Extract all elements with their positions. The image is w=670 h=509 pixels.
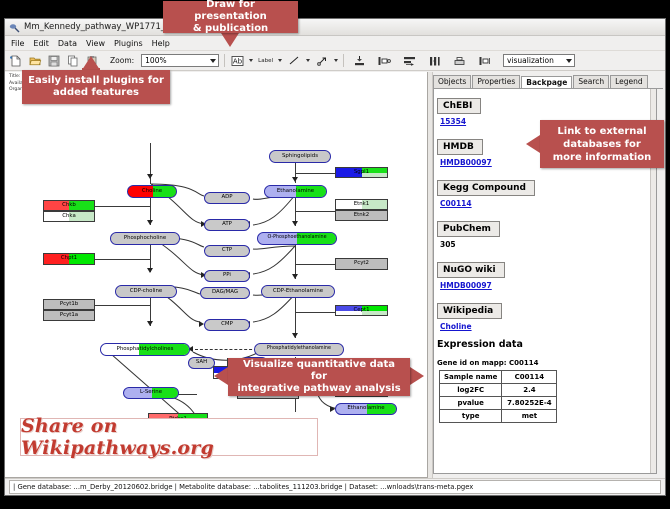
- svg-text:Ab: Ab: [233, 57, 243, 65]
- new-icon[interactable]: [9, 54, 23, 68]
- chevron-down-icon[interactable]: [334, 59, 338, 62]
- callout-plugins-line2: added features: [53, 87, 139, 99]
- gene-chka[interactable]: Chka: [43, 211, 95, 222]
- pathvisio-icon: [9, 22, 20, 33]
- node-label: Ethanolamine: [347, 406, 384, 411]
- metabolite-atp[interactable]: ATP: [204, 219, 250, 231]
- metabolite-sah[interactable]: SAH: [188, 357, 215, 369]
- metabolite-phosphatidylcholines[interactable]: Phosphatidylcholines: [100, 343, 190, 356]
- node-label: CTP: [222, 248, 232, 253]
- callout-draw: Draw for presentation & publication: [163, 1, 298, 33]
- node-label: ATP: [222, 222, 232, 227]
- status-bar: | Gene database: ...m_Derby_20120602.bri…: [5, 478, 665, 495]
- connector: [295, 173, 335, 174]
- gene-etnk2[interactable]: Etnk2: [335, 210, 388, 221]
- expr-key: pvalue: [440, 397, 502, 410]
- zoom-label: Zoom:: [110, 56, 134, 65]
- connector: [295, 211, 335, 212]
- menu-data[interactable]: Data: [58, 39, 77, 48]
- metabolite-ctp[interactable]: CTP: [204, 245, 250, 257]
- menu-help[interactable]: Help: [152, 39, 170, 48]
- node-label: CDP-Ethanolamine: [273, 289, 323, 294]
- toolbar-separator: [224, 54, 225, 67]
- gene-etnk1[interactable]: Etnk1: [335, 199, 388, 210]
- metabolite-cdp-ethanolamine[interactable]: CDP-Ethanolamine: [261, 285, 335, 298]
- metabolite-adp[interactable]: ADP: [204, 192, 250, 204]
- callout-plugins: Easily install plugins for added feature…: [22, 70, 170, 104]
- db-header-kegg-compound: Kegg Compound: [437, 180, 535, 196]
- callout-links: Link to external databases for more info…: [540, 120, 664, 168]
- distribute-vertical-icon[interactable]: [402, 54, 416, 68]
- db-header-hmdb: HMDB: [437, 139, 483, 155]
- font-style-icon[interactable]: Ab: [230, 54, 244, 68]
- metabolite-cdp-choline[interactable]: CDP-choline: [115, 285, 177, 298]
- gene-pcyt2[interactable]: Pcyt2: [335, 258, 388, 270]
- node-label: Chka: [62, 214, 76, 219]
- chevron-down-icon: [210, 59, 216, 63]
- callout-visualize-line1: Visualize quantitative data for: [234, 359, 404, 383]
- save-icon[interactable]: [47, 54, 61, 68]
- db-header-pubchem: PubChem: [437, 221, 500, 237]
- db-value-pubchem: 305: [440, 240, 653, 249]
- table-row: type met: [440, 410, 557, 423]
- expr-key: Sample name: [440, 371, 502, 384]
- visualization-value: visualization: [507, 56, 554, 65]
- metabolite-choline-top[interactable]: Choline: [127, 185, 177, 198]
- tab-objects[interactable]: Objects: [433, 75, 471, 88]
- toolbar-separator: [343, 54, 344, 67]
- tab-search[interactable]: Search: [573, 75, 609, 88]
- cofactor-curve: [249, 292, 299, 332]
- node-label: CMP: [221, 322, 233, 327]
- callout-visualize-line2: integrative pathway analysis: [237, 383, 400, 395]
- metabolite-dagmag[interactable]: DAG/MAG: [200, 287, 250, 299]
- chevron-down-icon[interactable]: [249, 59, 253, 62]
- chevron-down-icon[interactable]: [278, 59, 282, 62]
- node-label: SAH: [196, 360, 207, 365]
- arrow-down-icon: [292, 333, 298, 338]
- size-equal-icon[interactable]: [452, 54, 466, 68]
- metabolite-cmp[interactable]: CMP: [204, 319, 250, 331]
- chevron-down-icon: [566, 59, 572, 63]
- db-header-nugo-wiki: NuGO wiki: [437, 262, 505, 278]
- callout-plugins-pointer: [82, 56, 100, 70]
- arrow-down-icon: [147, 174, 153, 179]
- cofactor-curve: [249, 193, 299, 235]
- gene-chkb[interactable]: Chkb: [43, 200, 95, 211]
- callout-visualize: Visualize quantitative data for integrat…: [228, 358, 410, 396]
- node-label: Sgpl1: [354, 170, 369, 175]
- connector: [93, 259, 150, 260]
- screenshot-root: Mm_Kennedy_pathway_WP1771_45176.gpml Fil…: [0, 0, 670, 509]
- zoom-value: 100%: [145, 56, 166, 65]
- callout-draw-line1: Draw for presentation: [169, 0, 292, 23]
- status-text: | Gene database: ...m_Derby_20120602.bri…: [9, 480, 661, 494]
- title-bar: Mm_Kennedy_pathway_WP1771_45176.gpml: [5, 19, 665, 36]
- gene-sgpl1[interactable]: Sgpl1: [335, 167, 388, 178]
- cofactor-curve: [249, 244, 299, 284]
- db-link-nugo-wiki[interactable]: HMDB00097: [440, 281, 653, 290]
- node-label: ADP: [221, 195, 232, 200]
- align-top-icon[interactable]: [352, 54, 366, 68]
- callout-draw-line2: & publication: [193, 23, 268, 35]
- node-label: Pcyt1b: [60, 302, 78, 307]
- connector: [295, 312, 335, 313]
- expr-value: C00114: [502, 371, 557, 384]
- callout-links-line3: more information: [553, 151, 652, 164]
- callout-links-line1: Link to external: [557, 125, 646, 138]
- node-label: L-Serine: [140, 390, 162, 395]
- metabolite-phosphatidylethanolamine[interactable]: Phosphatidylethanolamine: [254, 343, 344, 356]
- db-link-kegg-compound[interactable]: C00114: [440, 199, 653, 208]
- expression-data-heading: Expression data: [437, 339, 653, 350]
- arrow-down-icon: [292, 177, 298, 182]
- copy-icon[interactable]: [66, 54, 80, 68]
- distribute-horizontal-icon[interactable]: [427, 54, 441, 68]
- node-label: CDP-choline: [130, 289, 162, 294]
- line-tool-icon[interactable]: [287, 54, 301, 68]
- node-label: Phosphatidylcholines: [117, 347, 174, 352]
- node-label: Chkb: [62, 203, 76, 208]
- connector: [177, 394, 197, 395]
- node-label: O-Phosphoethanolamine: [267, 236, 326, 241]
- menu-bar: File Edit Data View Plugins Help: [5, 36, 665, 51]
- callout-visualize-pointer-right: [410, 367, 424, 385]
- menu-view[interactable]: View: [86, 39, 105, 48]
- node-label: Pcyt1a: [60, 313, 78, 318]
- expr-key: type: [440, 410, 502, 423]
- table-row: log2FC 2.4: [440, 384, 557, 397]
- db-header-wikipedia: Wikipedia: [437, 303, 502, 319]
- expr-value: met: [502, 410, 557, 423]
- expr-value: 7.80252E-4: [502, 397, 557, 410]
- metabolite-sphingolipids[interactable]: Sphingolipids: [269, 150, 331, 163]
- chevron-down-icon[interactable]: [306, 59, 310, 62]
- tool-bar: Zoom: 100% Ab Label: [5, 51, 665, 71]
- side-tabs: Objects Properties Backpage Search Legen…: [433, 75, 663, 89]
- menu-plugins[interactable]: Plugins: [114, 39, 143, 48]
- expr-key: log2FC: [440, 384, 502, 397]
- menu-file[interactable]: File: [11, 39, 24, 48]
- connector: [93, 305, 150, 306]
- expr-value: 2.4: [502, 384, 557, 397]
- metabolite-ethanolamine-top[interactable]: Ethanolamine: [264, 185, 327, 198]
- menu-edit[interactable]: Edit: [33, 39, 49, 48]
- node-label: Chpt1: [61, 256, 77, 261]
- connector: [93, 206, 150, 207]
- callout-visualize-pointer: [214, 367, 228, 385]
- node-label: Choline: [142, 189, 162, 194]
- share-banner-text: Share on Wikipathways.org: [21, 415, 317, 459]
- share-banner: Share on Wikipathways.org: [20, 418, 318, 456]
- gene-id-on-mapp: Gene id on mapp: C00114: [437, 359, 653, 367]
- tab-properties[interactable]: Properties: [472, 75, 520, 88]
- node-label: Etnk2: [354, 213, 370, 218]
- db-header-chebi: ChEBI: [437, 98, 481, 114]
- expression-table: Sample name C00114 log2FC 2.4 pvalue 7.8…: [439, 370, 557, 423]
- metabolite-phosphocholine[interactable]: Phosphocholine: [110, 232, 180, 245]
- callout-plugins-line1: Easily install plugins for: [28, 75, 164, 87]
- tab-legend[interactable]: Legend: [610, 75, 648, 88]
- open-folder-icon[interactable]: [28, 54, 42, 68]
- metabolite-l-serine-left[interactable]: L-Serine: [123, 387, 179, 399]
- node-label: Pcyt2: [354, 261, 369, 266]
- table-row: pvalue 7.80252E-4: [440, 397, 557, 410]
- gene-pcyt1a[interactable]: Pcyt1a: [43, 310, 95, 321]
- gene-cept1[interactable]: Cept1: [335, 305, 388, 316]
- node-label: Sphingolipids: [282, 154, 318, 159]
- node-label: Etnk1: [354, 202, 370, 207]
- node-label: Phosphocholine: [124, 236, 166, 241]
- label-tool-label[interactable]: Label: [258, 58, 273, 64]
- bring-front-icon[interactable]: [477, 54, 491, 68]
- gene-chpt1[interactable]: Chpt1: [43, 253, 95, 265]
- node-label: Phosphatidylethanolamine: [267, 347, 331, 352]
- table-row: Sample name C00114: [440, 371, 557, 384]
- metabolite-ethanolamine-bottom[interactable]: Ethanolamine: [335, 403, 397, 415]
- db-link-wikipedia[interactable]: Choline: [440, 322, 653, 331]
- callout-links-line2: databases for: [563, 138, 641, 151]
- connector: [295, 264, 335, 265]
- node-label: Cept1: [353, 308, 369, 313]
- gene-pcyt1b[interactable]: Pcyt1b: [43, 299, 95, 310]
- callout-draw-pointer: [221, 33, 239, 47]
- align-left-icon[interactable]: [377, 54, 391, 68]
- metabolite-o-phosphoethanolamine[interactable]: O-Phosphoethanolamine: [257, 232, 337, 245]
- node-label: Ethanolamine: [277, 189, 314, 194]
- interaction-tool-icon[interactable]: [315, 54, 329, 68]
- visualization-combo[interactable]: visualization: [503, 54, 575, 67]
- zoom-combo[interactable]: 100%: [141, 54, 219, 67]
- metabolite-ppi[interactable]: PPi: [204, 270, 250, 282]
- callout-links-pointer: [526, 135, 540, 153]
- node-label: DAG/MAG: [212, 290, 238, 295]
- node-label: PPi: [223, 273, 231, 278]
